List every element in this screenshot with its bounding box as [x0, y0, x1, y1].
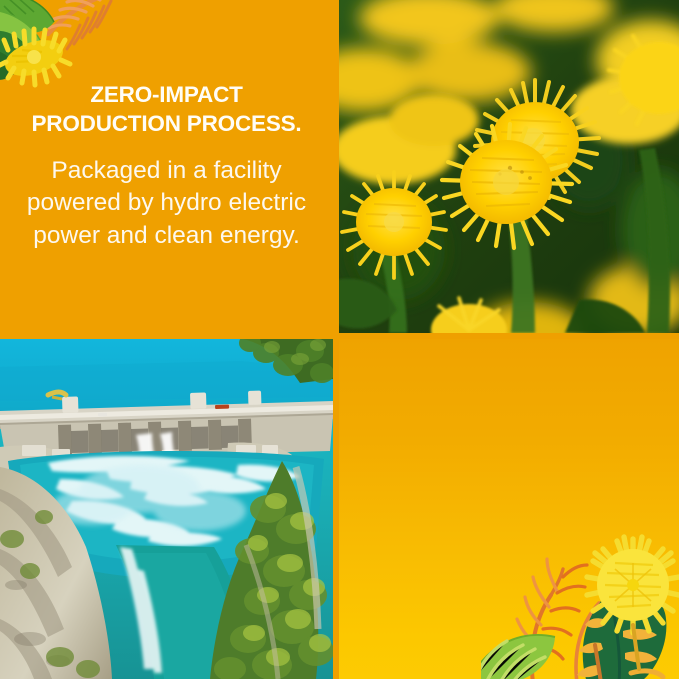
body-zero-impact: Packaged in a facility powered by hydro … [16, 155, 317, 253]
photo-hydroelectric-dam [0, 339, 333, 679]
infographic-canvas: ZERO-IMPACT PRODUCTION PROCESS. Packaged… [0, 0, 679, 679]
panel-bulk-packaging: Bulk packaging reduces packaging materia… [339, 339, 679, 679]
photo-dandelion-field [339, 0, 679, 333]
headline-zero-impact: ZERO-IMPACT PRODUCTION PROCESS. [16, 80, 317, 139]
dandelion-field-image [339, 0, 679, 333]
panel-zero-impact-production: ZERO-IMPACT PRODUCTION PROCESS. Packaged… [0, 0, 333, 333]
dandelion-monstera-fern-corner-art-icon [481, 533, 679, 679]
top-left-text-block: ZERO-IMPACT PRODUCTION PROCESS. Packaged… [0, 80, 333, 252]
hydroelectric-dam-image [0, 339, 333, 679]
